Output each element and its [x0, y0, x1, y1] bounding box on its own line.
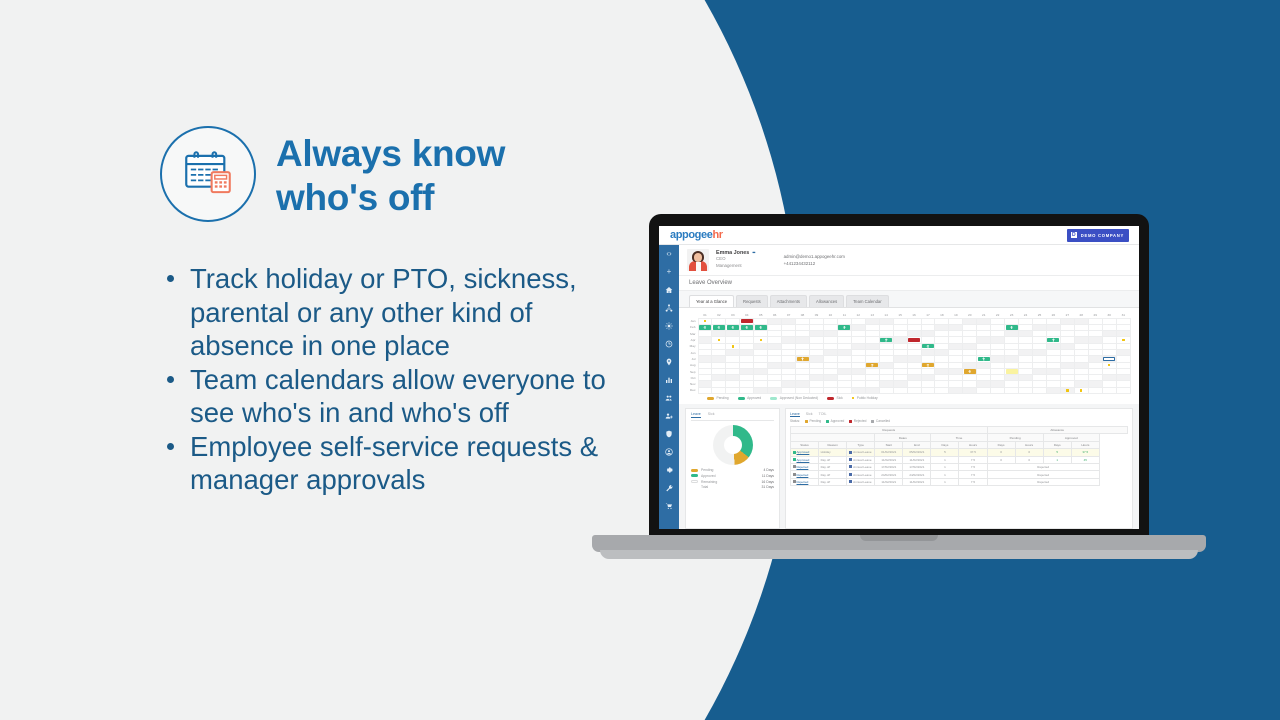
legend-label: Pending	[717, 396, 729, 400]
cell-merged-status: Rejected	[987, 463, 1099, 470]
calendar-entry-pending[interactable]	[797, 357, 809, 361]
add-person-icon[interactable]	[664, 410, 675, 421]
summary-row: Remaining16 Days	[691, 479, 774, 485]
status-filter-label-text: Cancelled	[876, 419, 890, 423]
status-filter-pending[interactable]: Pending	[805, 419, 821, 423]
profile-email: admin@demo1.appogeehr.com	[784, 253, 845, 260]
sun-icon[interactable]	[664, 320, 675, 331]
cell-days: 1	[931, 471, 959, 478]
cell-merged-status: Rejected	[987, 478, 1099, 485]
column-header: Hours	[959, 441, 987, 448]
location-pin-icon[interactable]	[664, 356, 675, 367]
calendar-cell[interactable]	[893, 387, 907, 393]
status-filter-label-text: Approved	[831, 419, 845, 423]
calendar-cell[interactable]	[935, 387, 949, 393]
table-row[interactable]: ApprovedDay offAnnual Leave11/02/202111/…	[791, 456, 1128, 463]
calendar-entry-approved[interactable]	[699, 325, 711, 329]
shield-icon[interactable]	[664, 428, 675, 439]
legend-item: Approved (Non Deducted)	[770, 396, 818, 400]
column-header: End	[903, 441, 931, 448]
cell-end: 11/02/2021	[903, 456, 931, 463]
group-header: Requests	[791, 427, 988, 434]
cell-hours: 7.5	[959, 471, 987, 478]
column-header: Days	[931, 441, 959, 448]
legend-item: Public Holiday	[852, 396, 878, 400]
status-filter-swatch	[871, 420, 874, 423]
cell-hours: 7.5	[959, 456, 987, 463]
app-content: Emma Jones ▪▪▪ CEO Management admin@demo…	[679, 245, 1139, 529]
type-label: Annual Leave	[853, 473, 871, 477]
cell-pending-days: 0	[987, 456, 1015, 463]
bar-chart-icon[interactable]	[664, 374, 675, 385]
app-body: ‹› +	[659, 245, 1139, 529]
gear-icon[interactable]	[664, 464, 675, 475]
cell-reason: Day off	[819, 456, 847, 463]
calendar-entry-approved[interactable]	[978, 357, 990, 361]
column-header: Status	[791, 441, 819, 448]
approved-days: 1	[1056, 458, 1058, 462]
calendar-grid: 0102030405060708091011121314151617181920…	[687, 312, 1131, 395]
wrench-icon[interactable]	[664, 482, 675, 493]
table-row[interactable]: RejectedDay offAnnual Leave11/02/202111/…	[791, 478, 1128, 485]
calendar-month-row: Dec	[687, 387, 1131, 393]
cell-pending-hours: 0	[1015, 449, 1043, 456]
legend-label: Public Holiday	[857, 396, 878, 400]
list-item: Employee self-service requests & manager…	[158, 430, 628, 497]
cell-type: Annual Leave	[847, 456, 875, 463]
summary-swatch	[691, 474, 698, 477]
tab-attachments[interactable]: Attachments	[770, 295, 807, 307]
clock-icon[interactable]	[664, 338, 675, 349]
company-badge[interactable]: D DEMO COMPANY	[1067, 229, 1129, 242]
calendar-entry-holiday[interactable]	[1061, 388, 1073, 392]
cell-type: Annual Leave	[847, 449, 875, 456]
approved-days: 5	[1056, 450, 1058, 454]
tab-year-at-a-glance[interactable]: Year at a Glance	[689, 295, 734, 307]
calendar-legend: PendingApprovedApproved (Non Deducted)Si…	[687, 394, 1131, 402]
calendar-cell[interactable]	[977, 387, 991, 393]
company-name: DEMO COMPANY	[1081, 233, 1124, 238]
cell-status[interactable]: Rejected	[791, 478, 819, 485]
calendar-entry-approved[interactable]	[880, 338, 892, 342]
column-header: Type	[847, 441, 875, 448]
cell-pending-days: 0	[987, 449, 1015, 456]
laptop-foot	[600, 550, 1198, 559]
cell-status[interactable]: Approved	[791, 449, 819, 456]
calendar-cell[interactable]	[879, 387, 893, 393]
profile-identity: Emma Jones ▪▪▪ CEO Management	[716, 250, 755, 270]
plus-icon[interactable]: +	[664, 266, 675, 277]
cell-reason: Day off	[819, 478, 847, 485]
subgroup-header: Pending	[987, 434, 1043, 441]
subgroup-header: Approved	[1043, 434, 1099, 441]
column-header: Hours	[1071, 441, 1099, 448]
summary-swatch	[691, 480, 698, 483]
summary-label: Total	[701, 485, 759, 489]
calendar-cell[interactable]	[837, 387, 851, 393]
status-link[interactable]: Rejected	[797, 480, 809, 484]
cell-end: 05/02/2021	[903, 449, 931, 456]
cell-end: 24/02/2021	[903, 471, 931, 478]
calendar-cell[interactable]	[1102, 387, 1116, 393]
subgroup-header: Dates	[875, 434, 931, 441]
cell-start: 24/02/2021	[875, 471, 903, 478]
leave-summary-card: LeaveSick Pending4 DaysApproved11 DaysRe…	[685, 408, 780, 529]
calendar-cell[interactable]	[991, 387, 1005, 393]
calendar-body: JanFebMarAprMayJunJulAugSepOctNovDec	[687, 318, 1131, 394]
list-item: Track holiday or PTO, sickness, parental…	[158, 262, 628, 363]
status-link[interactable]: Rejected	[797, 473, 809, 477]
summary-value: 16 Days	[762, 480, 774, 484]
calendar-entry-pending[interactable]	[964, 369, 976, 373]
laptop-mockup: appogeehr D DEMO COMPANY ‹› +	[592, 214, 1206, 566]
feature-bullet-list: Track holiday or PTO, sickness, parental…	[158, 262, 628, 497]
status-filter-label: Status:	[790, 419, 800, 423]
cell-reason: Holiday	[819, 449, 847, 456]
profile-contact: admin@demo1.appogeehr.com +441234432112	[784, 253, 845, 267]
calendar-cell[interactable]	[1033, 387, 1047, 393]
lower-panel: LeaveSick Pending4 DaysApproved11 DaysRe…	[679, 404, 1139, 529]
calendar-calculator-icon	[160, 126, 256, 222]
avatar	[687, 249, 709, 271]
table-subgroup-header-row: DatesTimePendingApproved	[791, 434, 1128, 441]
calendar-cell[interactable]	[698, 387, 712, 393]
cell-approved-days: 1	[1043, 456, 1071, 463]
app-sidebar: ‹› +	[659, 245, 679, 529]
legend-swatch	[827, 397, 834, 400]
person-icon[interactable]	[664, 446, 675, 457]
calendar-cell[interactable]	[782, 387, 796, 393]
donut-chart-wrap	[691, 421, 774, 468]
column-header: Hours	[1015, 441, 1043, 448]
calendar-cell[interactable]	[907, 387, 921, 393]
summary-tab-sick[interactable]: Sick	[708, 412, 715, 418]
calendar-cell[interactable]	[823, 387, 837, 393]
status-filters: Status:PendingApprovedRejectedCancelled	[790, 417, 1128, 426]
subgroup-header	[791, 434, 875, 441]
cell-days: 5	[931, 449, 959, 456]
status-filter-label-text: Pending	[809, 419, 821, 423]
calendar-month-label: Dec	[687, 387, 698, 393]
summary-row: Approved11 Days	[691, 473, 774, 479]
requests-table-head: RequestsAllowanceDatesTimePendingApprove…	[791, 427, 1128, 449]
table-row[interactable]: RejectedDay offAnnual Leave17/02/202117/…	[791, 463, 1128, 470]
calendar-entry-holiday[interactable]	[727, 344, 739, 348]
column-header: Days	[987, 441, 1015, 448]
calendar-cell[interactable]	[963, 387, 977, 393]
summary-label: Approved	[701, 474, 759, 478]
summary-swatch	[691, 469, 698, 472]
calendar-entry-holiday[interactable]	[755, 338, 767, 342]
calendar-cell[interactable]	[921, 387, 935, 393]
cell-days: 1	[931, 478, 959, 485]
status-link[interactable]: Approved	[797, 458, 810, 462]
cell-end: 17/02/2021	[903, 463, 931, 470]
cell-start: 01/02/2021	[875, 449, 903, 456]
calendar-entry-holiday[interactable]	[1103, 363, 1115, 367]
legend-label: Approved (Non Deducted)	[780, 396, 818, 400]
logo-text-primary: appogee	[670, 229, 712, 241]
summary-value: 4 Days	[763, 468, 774, 472]
calendar-cell[interactable]	[1060, 387, 1074, 393]
status-filter-rejected[interactable]: Rejected	[849, 419, 866, 423]
status-filter-swatch	[826, 420, 829, 423]
cell-merged-status: Rejected	[987, 471, 1099, 478]
status-filter-swatch	[849, 420, 852, 423]
cell-approved-days: 5	[1043, 449, 1071, 456]
cell-type: Annual Leave	[847, 478, 875, 485]
summary-legend: Pending4 DaysApproved11 DaysRemaining16 …	[691, 468, 774, 490]
calendar-entry-approved[interactable]	[741, 325, 753, 329]
appogee-hr-app: appogeehr D DEMO COMPANY ‹› +	[659, 226, 1139, 529]
summary-tabs: LeaveSick	[691, 412, 774, 421]
subgroup-header: Time	[931, 434, 987, 441]
cell-end: 11/02/2021	[903, 478, 931, 485]
table-row[interactable]: ApprovedHolidayAnnual Leave01/02/202105/…	[791, 449, 1128, 456]
status-filter-approved[interactable]: Approved	[826, 419, 844, 423]
tab-allowances[interactable]: Allowances	[809, 295, 844, 307]
year-at-a-glance-calendar: 0102030405060708091011121314151617181920…	[679, 308, 1139, 405]
status-filter-swatch	[805, 420, 808, 423]
calendar-entry-approved[interactable]	[713, 325, 725, 329]
calendar-cell[interactable]	[1046, 387, 1060, 393]
calendar-entry-approved[interactable]	[727, 325, 739, 329]
calendar-cell[interactable]	[740, 387, 754, 393]
table-group-header-row: RequestsAllowance	[791, 427, 1128, 434]
calendar-cell[interactable]	[754, 387, 768, 393]
more-options-icon[interactable]: ▪▪▪	[752, 250, 754, 256]
legend-swatch	[852, 397, 855, 400]
legend-item: Pending	[707, 396, 729, 400]
profile-phone: +441234432112	[784, 260, 845, 267]
tabstrip: Year at a GlanceRequestsAttachmentsAllow…	[679, 291, 1139, 308]
legend-item: Sick	[827, 396, 843, 400]
table-column-header-row: StatusReasonTypeStartEndDaysHoursDaysHou…	[791, 441, 1128, 448]
tab-team-calendar[interactable]: Team Calendar	[846, 295, 888, 307]
tab-requests[interactable]: Requests	[736, 295, 768, 307]
cell-start: 11/02/2021	[875, 478, 903, 485]
cell-days: 1	[931, 456, 959, 463]
group-header: Allowance	[987, 427, 1127, 434]
slide-left-column: Always know who's off Track holiday or P…	[0, 0, 640, 720]
company-initial-icon: D	[1070, 231, 1078, 239]
calendar-cell[interactable]	[1019, 387, 1033, 393]
profile-bar: Emma Jones ▪▪▪ CEO Management admin@demo…	[679, 245, 1139, 276]
column-header: Start	[875, 441, 903, 448]
calendar-cell[interactable]	[1074, 387, 1088, 393]
org-chart-icon[interactable]	[664, 302, 675, 313]
summary-value: 11 Days	[762, 474, 774, 478]
cell-status[interactable]: Approved	[791, 456, 819, 463]
calendar-entry-approved[interactable]	[838, 325, 850, 329]
cell-approved-hours: 37.5	[1071, 449, 1099, 456]
app-topbar: appogeehr D DEMO COMPANY	[659, 226, 1139, 245]
legend-label: Sick	[837, 396, 843, 400]
calendar-entry-pale[interactable]	[1006, 369, 1018, 373]
profile-department: Management	[716, 263, 755, 270]
calendar-entry-pending[interactable]	[922, 363, 934, 367]
cell-hours: 37.5	[959, 449, 987, 456]
calendar-cell[interactable]	[1088, 387, 1102, 393]
leave-donut-chart	[713, 425, 753, 465]
calendar-entry-approved[interactable]	[1006, 325, 1018, 329]
home-icon[interactable]	[664, 284, 675, 295]
status-link[interactable]: Approved	[797, 450, 810, 454]
calendar-cell[interactable]	[851, 387, 865, 393]
calendar-entry-sick[interactable]	[741, 319, 753, 323]
calendar-entry-holiday[interactable]	[1117, 338, 1129, 342]
cell-reason: Day off	[819, 471, 847, 478]
legend-swatch	[738, 397, 745, 400]
calendar-cell[interactable]	[726, 387, 740, 393]
approved-hours: 45	[1084, 458, 1087, 462]
type-label: Annual Leave	[853, 465, 871, 469]
cell-pending-hours: 0	[1015, 456, 1043, 463]
cell-status[interactable]: Rejected	[791, 463, 819, 470]
page-title: Always know who's off	[276, 126, 505, 221]
laptop-screen: appogeehr D DEMO COMPANY ‹› +	[659, 226, 1139, 529]
column-header: Days	[1043, 441, 1071, 448]
approved-hours: 37.5	[1082, 450, 1088, 454]
summary-tab-leave[interactable]: Leave	[691, 412, 701, 418]
requests-card: LeaveSickTOIL Status:PendingApprovedReje…	[785, 408, 1133, 529]
collapse-icon[interactable]: ‹›	[664, 248, 675, 259]
column-header: Reason	[819, 441, 847, 448]
calendar-entry-approved[interactable]	[922, 344, 934, 348]
laptop-lid: appogeehr D DEMO COMPANY ‹› +	[649, 214, 1149, 539]
calendar-entry-pending[interactable]	[866, 363, 878, 367]
cell-reason: Day off	[819, 463, 847, 470]
status-filter-label-text: Rejected	[854, 419, 867, 423]
summary-label: Remaining	[701, 480, 759, 484]
calendar-cell[interactable]	[768, 387, 782, 393]
requests-table-body: ApprovedHolidayAnnual Leave01/02/202105/…	[791, 449, 1128, 486]
requests-table: RequestsAllowanceDatesTimePendingApprove…	[790, 426, 1128, 486]
calendar-entry-approved[interactable]	[755, 325, 767, 329]
calendar-cell[interactable]	[1005, 387, 1019, 393]
calendar-entry-holiday[interactable]	[699, 319, 711, 323]
type-label: Annual Leave	[853, 480, 871, 484]
leave-overview-title: Leave Overview	[679, 276, 1139, 291]
appogee-hr-logo[interactable]: appogeehr	[670, 229, 723, 241]
legend-item: Approved	[738, 396, 762, 400]
cell-start: 11/02/2021	[875, 456, 903, 463]
calendar-cell[interactable]	[810, 387, 824, 393]
list-item: Team calendars allow everyone to see who…	[158, 363, 628, 430]
table-row[interactable]: RejectedDay offAnnual Leave24/02/202124/…	[791, 471, 1128, 478]
legend-swatch	[770, 397, 777, 400]
summary-value: 31 Days	[762, 485, 774, 489]
calendar-entry-approved[interactable]	[1047, 338, 1059, 342]
type-label: Annual Leave	[853, 458, 871, 462]
cart-icon[interactable]	[664, 500, 675, 511]
status-filter-cancelled[interactable]: Cancelled	[871, 419, 890, 423]
cell-start: 17/02/2021	[875, 463, 903, 470]
calendar-cell[interactable]	[712, 387, 726, 393]
calendar-entry-sick[interactable]	[908, 338, 920, 342]
cell-status[interactable]: Rejected	[791, 471, 819, 478]
logo-text-secondary: hr	[712, 229, 722, 241]
summary-label: Pending	[701, 468, 760, 472]
people-icon[interactable]	[664, 392, 675, 403]
summary-row: Total31 Days	[691, 484, 774, 490]
cell-type: Annual Leave	[847, 471, 875, 478]
calendar-entry-holiday[interactable]	[1075, 388, 1087, 392]
calendar-entry-outline[interactable]	[1103, 357, 1115, 361]
cell-approved-hours: 45	[1071, 456, 1099, 463]
status-link[interactable]: Rejected	[797, 465, 809, 469]
type-label: Annual Leave	[853, 450, 871, 454]
calendar-cell[interactable]	[949, 387, 963, 393]
legend-label: Approved	[747, 396, 761, 400]
calendar-cell[interactable]	[796, 387, 810, 393]
cell-days: 1	[931, 463, 959, 470]
cell-hours: 7.5	[959, 478, 987, 485]
cell-hours: 7.5	[959, 463, 987, 470]
legend-swatch	[707, 397, 714, 400]
calendar-cell[interactable]	[865, 387, 879, 393]
headline-block: Always know who's off	[160, 126, 505, 222]
cell-type: Annual Leave	[847, 463, 875, 470]
calendar-entry-holiday[interactable]	[713, 338, 725, 342]
profile-role: CEO	[716, 256, 755, 263]
calendar-cell[interactable]	[1116, 387, 1130, 393]
